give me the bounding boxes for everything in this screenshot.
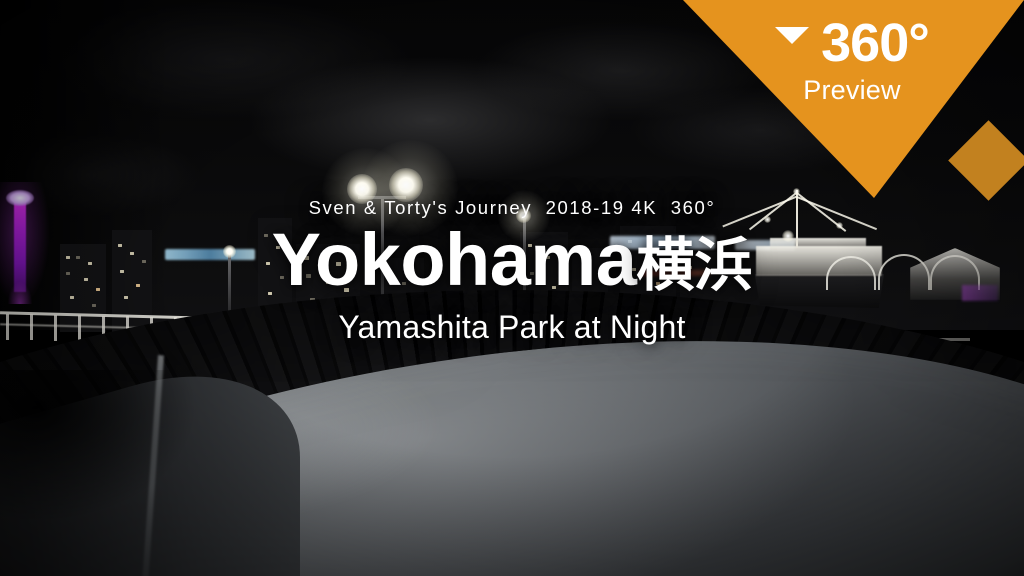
title-block: Sven & Torty's Journey 2018-19 4K 360° Y… (0, 198, 1024, 345)
subtitle: Yamashita Park at Night (0, 310, 1024, 345)
badge-content: 360° Preview (680, 0, 1024, 120)
title-japanese: 横浜 (636, 233, 752, 298)
badge-360-label: 360° (821, 16, 929, 70)
badge-preview-label: Preview (803, 77, 900, 104)
page-title: Yokohama横浜 (0, 222, 1024, 297)
foreground-shadow (0, 370, 300, 576)
video-thumbnail-frame: Sven & Torty's Journey 2018-19 4K 360° Y… (0, 0, 1024, 576)
badge-top-row: 360° (775, 16, 929, 70)
triangle-down-icon (775, 27, 809, 44)
series-kicker: Sven & Torty's Journey 2018-19 4K 360° (0, 198, 1024, 218)
title-latin: Yokohama (272, 218, 637, 301)
360-preview-badge[interactable]: 360° Preview (680, 0, 1024, 200)
